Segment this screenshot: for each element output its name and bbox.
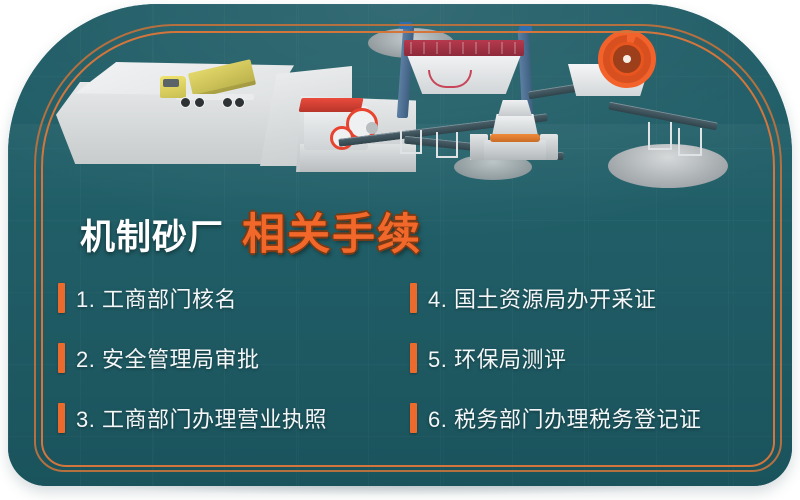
list-item-label: 6. 税务部门办理税务登记证 — [428, 402, 701, 434]
procedure-list: 1. 工商部门核名 4. 国土资源局办开采证 2. 安全管理局审批 5. 环保局… — [58, 268, 758, 448]
list-item: 2. 安全管理局审批 — [58, 328, 406, 388]
bullet-marker-icon — [58, 343, 65, 373]
list-item: 4. 国土资源局办开采证 — [410, 268, 758, 328]
list-item: 6. 税务部门办理税务登记证 — [410, 388, 758, 448]
list-item: 3. 工商部门办理营业执照 — [58, 388, 406, 448]
title-primary: 机制砂厂 — [80, 209, 224, 260]
list-item: 1. 工商部门核名 — [58, 268, 406, 328]
list-item-label: 2. 安全管理局审批 — [76, 342, 259, 374]
poster-canvas: 机制砂厂 相关手续 1. 工商部门核名 4. 国土资源局办开采证 2. 安全管理… — [0, 0, 800, 500]
list-item: 5. 环保局测评 — [410, 328, 758, 388]
bullet-marker-icon — [410, 403, 417, 433]
bullet-marker-icon — [410, 343, 417, 373]
poster-panel: 机制砂厂 相关手续 1. 工商部门核名 4. 国土资源局办开采证 2. 安全管理… — [8, 4, 792, 486]
bullet-marker-icon — [410, 283, 417, 313]
bullet-marker-icon — [58, 403, 65, 433]
list-item-label: 3. 工商部门办理营业执照 — [76, 402, 327, 434]
text-content: 机制砂厂 相关手续 1. 工商部门核名 4. 国土资源局办开采证 2. 安全管理… — [8, 190, 792, 486]
list-item-label: 1. 工商部门核名 — [76, 282, 237, 314]
bullet-marker-icon — [58, 283, 65, 313]
list-item-label: 5. 环保局测评 — [428, 342, 566, 374]
list-item-label: 4. 国土资源局办开采证 — [428, 282, 656, 314]
title-accent: 相关手续 — [242, 200, 422, 262]
page-title: 机制砂厂 相关手续 — [80, 200, 422, 262]
